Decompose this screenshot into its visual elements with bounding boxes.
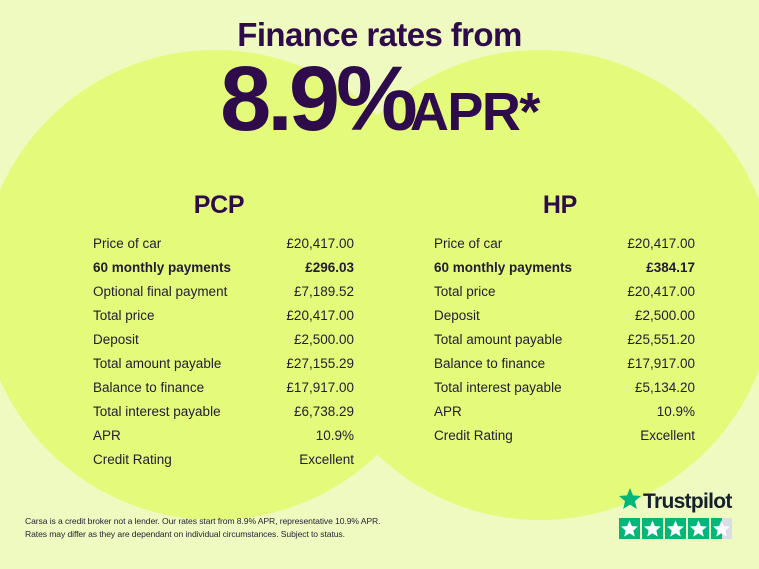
row-label: Total interest payable bbox=[93, 405, 221, 419]
table-row: Balance to finance£17,917.00 bbox=[83, 381, 355, 405]
row-value: Excellent bbox=[299, 453, 354, 467]
table-row: Price of car£20,417.00 bbox=[83, 237, 355, 261]
trustpilot-star-icon bbox=[619, 488, 641, 514]
table-rows-pcp: Price of car£20,417.0060 monthly payment… bbox=[83, 237, 355, 477]
table-row: Total price£20,417.00 bbox=[83, 309, 355, 333]
headline-rate-line: 8.9% APR* bbox=[0, 57, 759, 142]
row-value: £384.17 bbox=[646, 261, 695, 275]
row-value: £2,500.00 bbox=[635, 309, 695, 323]
content-layer: Finance rates from 8.9% APR* PCP Price o… bbox=[0, 0, 759, 569]
row-value: £20,417.00 bbox=[627, 285, 695, 299]
trustpilot-rating-stars bbox=[619, 518, 737, 539]
rating-star-icon bbox=[619, 518, 640, 539]
table-row: Optional final payment£7,189.52 bbox=[83, 285, 355, 309]
row-label: Deposit bbox=[434, 309, 480, 323]
page-title: Finance rates from bbox=[0, 18, 759, 51]
table-row: Credit RatingExcellent bbox=[83, 453, 355, 477]
row-value: £25,551.20 bbox=[627, 333, 695, 347]
row-label: Total amount payable bbox=[93, 357, 221, 371]
table-row: Credit RatingExcellent bbox=[424, 429, 696, 453]
rating-star-icon bbox=[688, 518, 709, 539]
trustpilot-badge: Trustpilot bbox=[619, 489, 737, 539]
row-label: Total interest payable bbox=[434, 381, 562, 395]
row-label: Credit Rating bbox=[93, 453, 172, 467]
table-row: Total amount payable£27,155.29 bbox=[83, 357, 355, 381]
row-value: £5,134.20 bbox=[635, 381, 695, 395]
headline-apr-label: APR* bbox=[410, 88, 539, 138]
headline-rate-value: 8.9% bbox=[220, 57, 414, 142]
row-value: £17,917.00 bbox=[627, 357, 695, 371]
row-label: Price of car bbox=[93, 237, 161, 251]
row-value: 10.9% bbox=[657, 405, 695, 419]
table-row: APR10.9% bbox=[83, 429, 355, 453]
table-row: Total interest payable£6,738.29 bbox=[83, 405, 355, 429]
row-label: APR bbox=[434, 405, 462, 419]
row-label: Balance to finance bbox=[93, 381, 204, 395]
trustpilot-wordmark: Trustpilot bbox=[619, 489, 737, 513]
row-label: Credit Rating bbox=[434, 429, 513, 443]
table-row: Price of car£20,417.00 bbox=[424, 237, 696, 261]
table-row: Balance to finance£17,917.00 bbox=[424, 357, 696, 381]
table-row: 60 monthly payments£296.03 bbox=[83, 261, 355, 285]
table-title-pcp: PCP bbox=[83, 193, 355, 218]
row-label: Total price bbox=[434, 285, 496, 299]
row-value: £6,738.29 bbox=[294, 405, 354, 419]
disclaimer-line-2: Rates may differ as they are dependant o… bbox=[25, 528, 455, 541]
disclaimer-line-1: Carsa is a credit broker not a lender. O… bbox=[25, 515, 455, 528]
finance-table-hp: HP Price of car£20,417.0060 monthly paym… bbox=[424, 193, 696, 453]
table-row: 60 monthly payments£384.17 bbox=[424, 261, 696, 285]
row-label: Optional final payment bbox=[93, 285, 227, 299]
row-value: £20,417.00 bbox=[286, 309, 354, 323]
table-row: Total price£20,417.00 bbox=[424, 285, 696, 309]
disclaimer-text: Carsa is a credit broker not a lender. O… bbox=[25, 515, 455, 542]
row-label: Total price bbox=[93, 309, 155, 323]
row-value: £2,500.00 bbox=[294, 333, 354, 347]
row-label: Total amount payable bbox=[434, 333, 562, 347]
row-label: Deposit bbox=[93, 333, 139, 347]
rating-star-icon bbox=[711, 518, 732, 539]
table-title-hp: HP bbox=[424, 193, 696, 218]
row-label: 60 monthly payments bbox=[93, 261, 231, 275]
row-value: £20,417.00 bbox=[286, 237, 354, 251]
row-value: £17,917.00 bbox=[286, 381, 354, 395]
rating-star-icon bbox=[642, 518, 663, 539]
row-value: £296.03 bbox=[305, 261, 354, 275]
table-row: Total amount payable£25,551.20 bbox=[424, 333, 696, 357]
headline-block: Finance rates from 8.9% APR* bbox=[0, 18, 759, 142]
table-row: Deposit£2,500.00 bbox=[83, 333, 355, 357]
trustpilot-name: Trustpilot bbox=[643, 491, 732, 512]
table-row: Deposit£2,500.00 bbox=[424, 309, 696, 333]
row-value: Excellent bbox=[640, 429, 695, 443]
row-label: Balance to finance bbox=[434, 357, 545, 371]
row-value: £7,189.52 bbox=[294, 285, 354, 299]
table-row: Total interest payable£5,134.20 bbox=[424, 381, 696, 405]
table-rows-hp: Price of car£20,417.0060 monthly payment… bbox=[424, 237, 696, 453]
finance-rates-poster: Finance rates from 8.9% APR* PCP Price o… bbox=[0, 0, 759, 569]
row-value: £20,417.00 bbox=[627, 237, 695, 251]
row-label: Price of car bbox=[434, 237, 502, 251]
row-label: 60 monthly payments bbox=[434, 261, 572, 275]
row-value: 10.9% bbox=[316, 429, 354, 443]
row-value: £27,155.29 bbox=[286, 357, 354, 371]
table-row: APR10.9% bbox=[424, 405, 696, 429]
finance-table-pcp: PCP Price of car£20,417.0060 monthly pay… bbox=[83, 193, 355, 477]
row-label: APR bbox=[93, 429, 121, 443]
rating-star-icon bbox=[665, 518, 686, 539]
